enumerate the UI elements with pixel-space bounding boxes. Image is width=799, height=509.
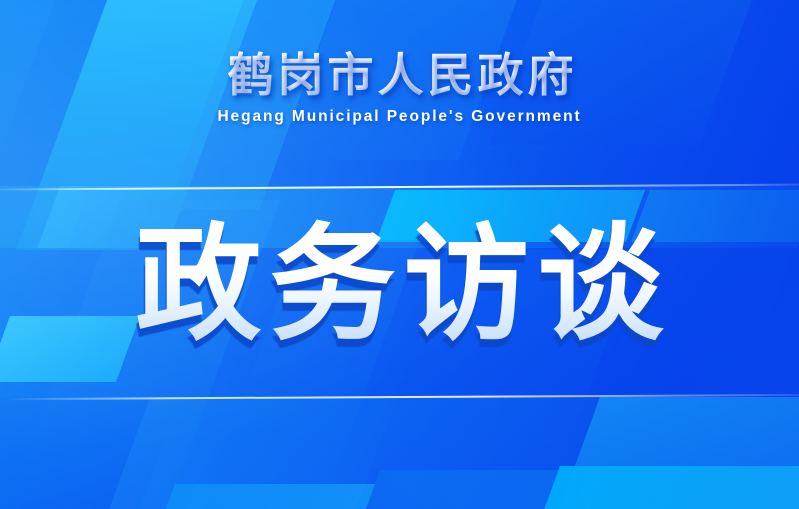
main-title: 政务访谈 政务访谈 <box>128 222 672 348</box>
organization-name-english: Hegang Municipal People's Government <box>0 108 799 126</box>
decorative-diagonal-band <box>160 484 375 509</box>
decorative-diagonal-band <box>556 397 799 509</box>
decorative-diagonal-band <box>106 397 799 509</box>
decorative-diagonal-band-cyan <box>538 466 799 509</box>
decorative-diagonal-band <box>0 397 180 509</box>
decorative-diagonal-band <box>0 0 70 260</box>
decorative-divider-line-lower <box>0 394 799 401</box>
decorative-diagonal-band <box>360 470 580 509</box>
main-title-container: 政务访谈 政务访谈 <box>0 222 799 348</box>
organization-name-chinese: 鹤岗市人民政府 <box>0 50 799 102</box>
decorative-divider-line-upper <box>0 183 799 190</box>
government-interview-banner: 鹤岗市人民政府 Hegang Municipal People's Govern… <box>0 0 799 509</box>
organization-header: 鹤岗市人民政府 Hegang Municipal People's Govern… <box>0 50 799 126</box>
main-title-text: 政务访谈 <box>136 214 672 355</box>
